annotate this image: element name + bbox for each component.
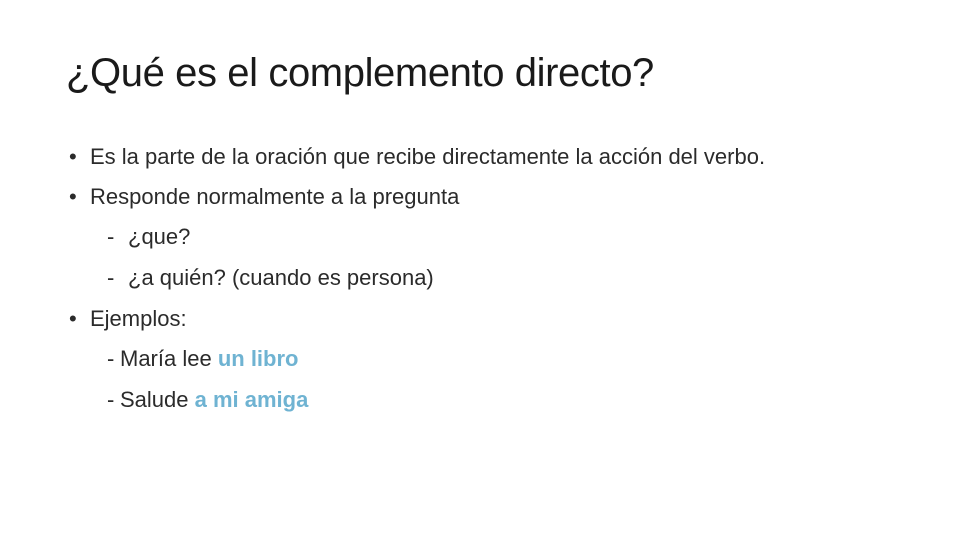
bullet-marker-icon: • [69,142,77,172]
slide: ¿Qué es el complemento directo? • Es la … [0,0,960,540]
example-sentence-text: María lee [120,346,218,371]
list-item-label: Responde normalmente a la pregunta [90,182,876,212]
list-item-label: Es la parte de la oración que recibe dir… [90,142,876,172]
dash-marker-icon: - [107,263,114,293]
page-title: ¿Qué es el complemento directo? [66,48,906,98]
example-sentence-text: Salude [120,387,195,412]
slide-body: • Es la parte de la oración que recibe d… [66,142,876,426]
list-item: • Ejemplos: [66,304,876,334]
dash-marker-icon: - [107,385,114,415]
list-item: • Es la parte de la oración que recibe d… [66,142,876,172]
example-item-label: Salude a mi amiga [120,387,308,412]
dash-marker-icon: - [107,222,114,252]
dash-marker-icon: - [107,344,114,374]
bullet-marker-icon: • [69,304,77,334]
bullet-marker-icon: • [69,182,77,212]
list-item: • Responde normalmente a la pregunta [66,182,876,212]
example-item: - María lee un libro [66,344,876,374]
sub-list-item-label: ¿a quién? (cuando es persona) [128,265,434,290]
sub-list-item: - ¿que? [66,222,876,252]
example-item: - Salude a mi amiga [66,385,876,415]
direct-object-highlight: a mi amiga [195,387,309,412]
direct-object-highlight: un libro [218,346,299,371]
sub-list-item-label: ¿que? [128,224,190,249]
example-item-label: María lee un libro [120,346,298,371]
sub-list-item: - ¿a quién? (cuando es persona) [66,263,876,293]
list-item-label: Ejemplos: [90,304,876,334]
